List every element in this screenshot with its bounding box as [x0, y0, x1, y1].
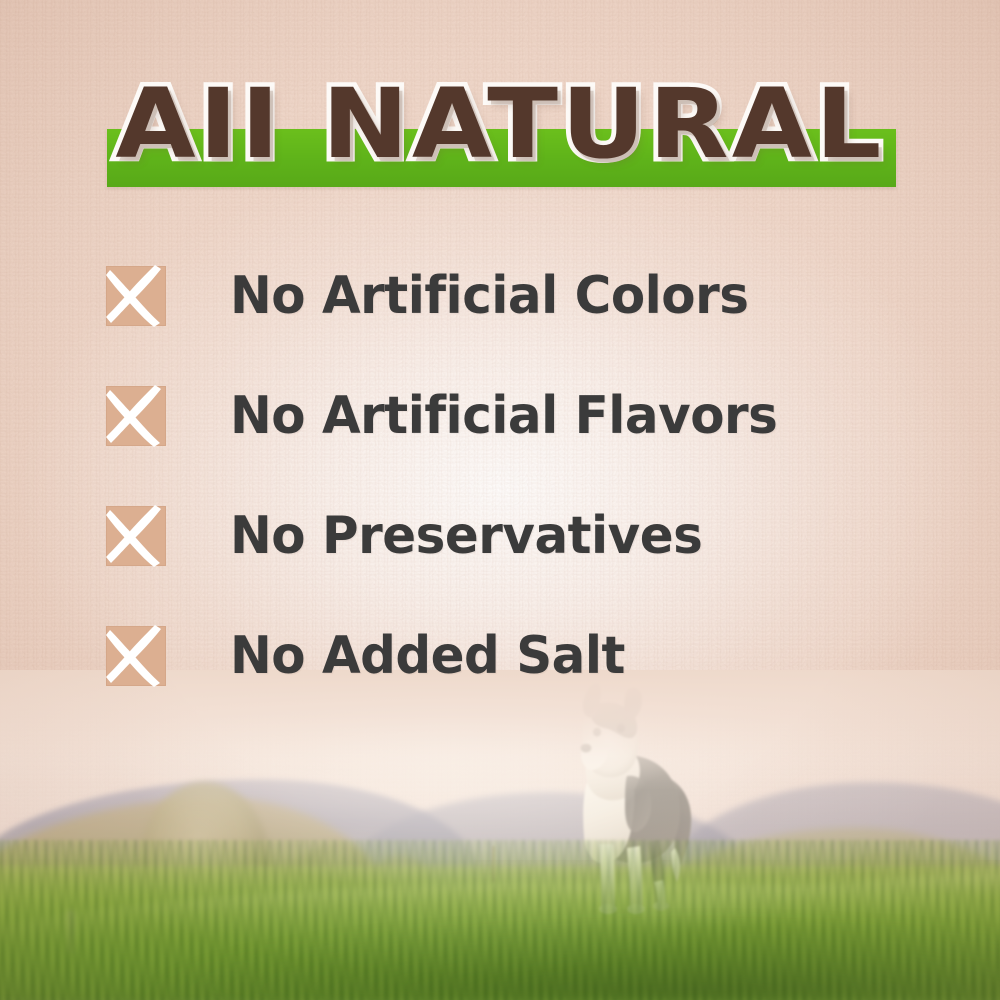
grass-shadow — [120, 890, 1000, 1000]
checklist-item: No Preservatives — [106, 502, 906, 622]
product-infographic-panel: AII NATURAL No Artificial Colors No Arti… — [0, 0, 1000, 1000]
checkbox-box — [106, 386, 166, 446]
checkbox-box — [106, 266, 166, 326]
x-mark-icon — [100, 380, 172, 452]
headline-text: AII NATURAL — [0, 72, 1000, 176]
checklist-item: No Artificial Flavors — [106, 382, 906, 502]
checklist-item-label: No Artificial Flavors — [230, 376, 777, 456]
checklist-item: No Artificial Colors — [106, 262, 906, 382]
checklist-item-label: No Added Salt — [230, 616, 625, 696]
checklist-item: No Added Salt — [106, 622, 906, 742]
x-mark-icon — [100, 500, 172, 572]
claims-checklist: No Artificial Colors No Artificial Flavo… — [106, 262, 906, 742]
x-mark-icon — [100, 260, 172, 332]
checklist-item-label: No Preservatives — [230, 496, 702, 576]
checkbox-box — [106, 506, 166, 566]
x-mark-icon — [100, 620, 172, 692]
checkbox-box — [106, 626, 166, 686]
headline-block: AII NATURAL — [0, 72, 1000, 194]
checklist-item-label: No Artificial Colors — [230, 256, 748, 336]
